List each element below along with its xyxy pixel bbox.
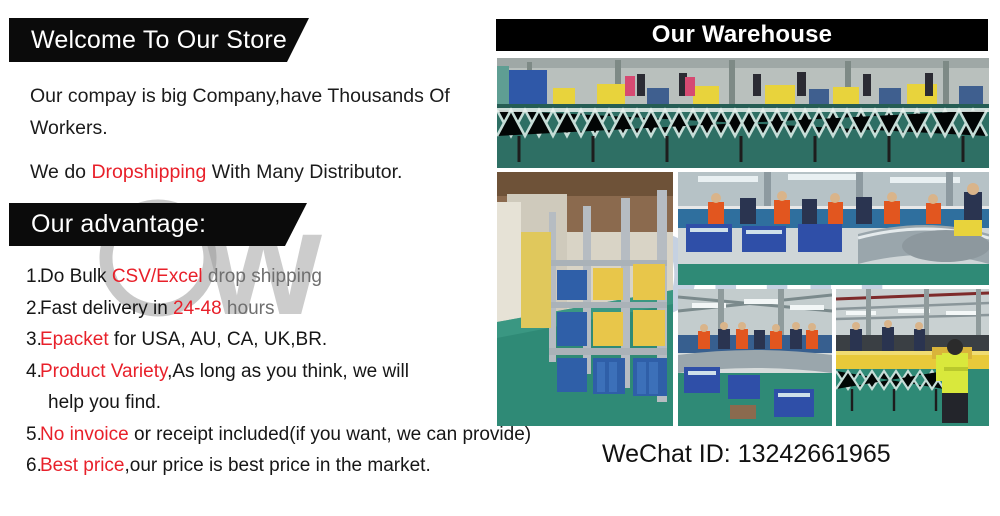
list-item-number: 4. <box>26 356 40 388</box>
list-item-pre: Fast delivery in <box>40 298 173 319</box>
list-item-number: 5. <box>26 419 40 451</box>
warehouse-banner-label: Our Warehouse <box>652 21 832 49</box>
warehouse-photo-grid <box>497 58 989 426</box>
right-panel: Our Warehouse <box>492 0 1000 516</box>
list-item-post: ,our price is best price in the market. <box>124 455 430 476</box>
advantage-banner-label: Our advantage: <box>31 210 206 239</box>
list-item-number: 2. <box>26 293 40 325</box>
warehouse-photo-top <box>497 58 989 168</box>
wechat-id-text: WeChat ID: 13242661965 <box>602 440 891 469</box>
list-item-number: 1. <box>26 261 40 293</box>
list-item-highlight: Best price <box>40 455 124 476</box>
warehouse-photo-sorting <box>678 172 989 285</box>
list-item-highlight: CSV/Excel <box>112 266 203 287</box>
intro-line-1: Our compay is big Company,have Thousands… <box>0 80 492 144</box>
advantage-banner: Our advantage: <box>9 203 307 246</box>
warehouse-banner: Our Warehouse <box>496 19 988 51</box>
list-item-post: for USA, AU, CA, UK,BR. <box>109 329 328 350</box>
intro-line-2: We do Dropshipping With Many Distributor… <box>0 156 492 188</box>
list-item-post: hours <box>222 298 275 319</box>
list-item-highlight: 24-48 <box>173 298 222 319</box>
warehouse-photo-packing <box>836 289 989 426</box>
warehouse-photo-racks <box>497 172 673 426</box>
list-item-post: ,As long as you think, we will <box>167 361 409 382</box>
list-item-number: 3. <box>26 324 40 356</box>
intro-line-2-post: With Many Distributor. <box>206 161 402 183</box>
list-item-post: or receipt included(if you want, we can … <box>129 424 531 445</box>
warehouse-photo-hall <box>678 289 832 426</box>
list-item-highlight: Epacket <box>40 329 109 350</box>
intro-line-2-highlight: Dropshipping <box>91 161 206 183</box>
welcome-banner: Welcome To Our Store <box>9 18 309 62</box>
list-item-post: drop shipping <box>203 266 322 287</box>
list-item-pre: Do Bulk <box>40 266 112 287</box>
intro-line-2-pre: We do <box>30 161 91 183</box>
left-panel: Welcome To Our Store Our compay is big C… <box>0 0 492 516</box>
list-item-number: 6. <box>26 450 40 482</box>
welcome-banner-label: Welcome To Our Store <box>31 26 287 55</box>
intro-block: Our compay is big Company,have Thousands… <box>0 80 492 188</box>
list-item-highlight: Product Variety <box>40 361 167 382</box>
list-item-highlight: No invoice <box>40 424 129 445</box>
